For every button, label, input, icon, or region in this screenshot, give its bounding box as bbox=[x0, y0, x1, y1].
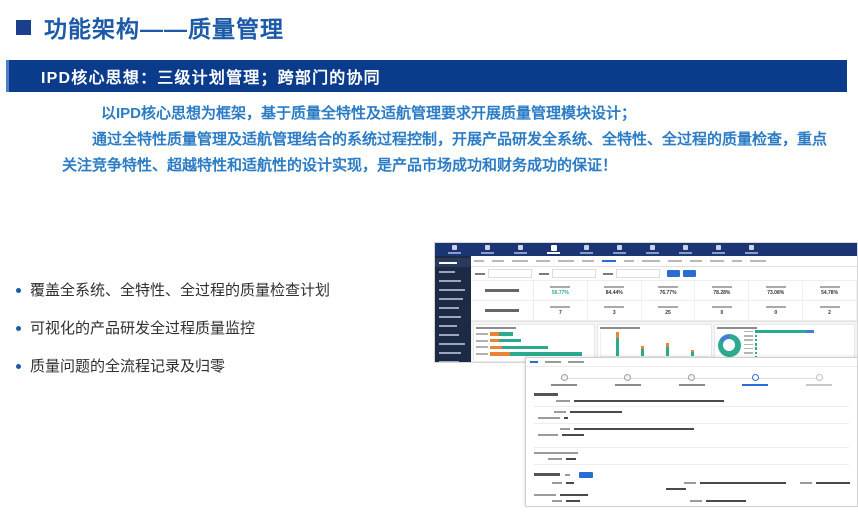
stepper-step-1[interactable] bbox=[540, 374, 588, 386]
sidebar-item-label bbox=[439, 361, 459, 363]
progress-stepper bbox=[526, 367, 857, 390]
field-value bbox=[666, 488, 686, 490]
topnav-item-icon bbox=[551, 245, 557, 251]
topnav-item-icon bbox=[650, 245, 655, 250]
kpi-row-header bbox=[471, 301, 534, 320]
dashboard-tab-10[interactable] bbox=[668, 260, 682, 262]
field-label bbox=[552, 482, 562, 484]
field-value bbox=[562, 434, 584, 436]
section-heading-row bbox=[534, 472, 849, 478]
field-value bbox=[706, 500, 746, 502]
field-label bbox=[552, 500, 562, 502]
sidebar-item-label bbox=[439, 334, 459, 336]
kpi-row-header bbox=[471, 281, 534, 300]
sidebar-item-label bbox=[439, 289, 465, 291]
dashboard-tab-strip bbox=[471, 256, 857, 267]
sidebar-item-label bbox=[439, 352, 461, 354]
topnav-item-7[interactable] bbox=[636, 245, 669, 254]
sidebar-item-6[interactable] bbox=[435, 303, 471, 312]
topnav-item-icon bbox=[485, 245, 490, 250]
square-bullet-icon bbox=[16, 20, 31, 35]
kpi-cell: 25 bbox=[642, 301, 696, 320]
sidebar-item-3[interactable] bbox=[435, 276, 471, 285]
dashboard-tab-13[interactable] bbox=[732, 260, 742, 262]
sidebar-item-7[interactable] bbox=[435, 312, 471, 321]
dashboard-tab-3[interactable] bbox=[512, 260, 528, 262]
vertical-bar-4 bbox=[691, 350, 694, 356]
field-label bbox=[560, 428, 570, 430]
sidebar-item-label bbox=[439, 280, 461, 282]
field-row bbox=[534, 452, 849, 454]
paragraph-2: 通过全特性质量管理及适航管理结合的系统过程控制，开展产品研发全系统、全特性、全过… bbox=[0, 127, 858, 179]
field-label bbox=[565, 474, 570, 476]
chart-plot-area bbox=[476, 331, 592, 358]
filter-input-2[interactable] bbox=[552, 269, 596, 278]
topnav-item-label bbox=[646, 252, 659, 254]
chart-title bbox=[600, 327, 640, 329]
sidebar-item-label bbox=[439, 271, 455, 273]
field-label bbox=[534, 452, 578, 454]
step-label bbox=[551, 384, 577, 386]
donut-chart-icon bbox=[718, 334, 741, 357]
info-grid-row bbox=[534, 482, 849, 484]
topnav-item-label bbox=[679, 252, 692, 254]
vertical-bar-3 bbox=[666, 343, 669, 356]
bar-category-label bbox=[476, 340, 488, 342]
banner-title: IPD核心思想：三级计划管理；跨部门的协同 bbox=[41, 64, 381, 88]
topnav-item-label bbox=[547, 252, 560, 254]
dashboard-main-panel: 56.77% 84.44% 76.77% 78.28% 73.08% 54.78… bbox=[471, 256, 857, 363]
bar-row-3 bbox=[476, 345, 592, 349]
bar-category-label bbox=[744, 331, 753, 333]
chart-title bbox=[717, 327, 757, 329]
bar-segment-teal bbox=[616, 338, 619, 356]
kpi-cell: 2 bbox=[803, 301, 857, 320]
mini-bar-row-6 bbox=[744, 351, 852, 354]
bar-segment-orange bbox=[490, 346, 502, 350]
topnav-item-4[interactable] bbox=[537, 245, 570, 255]
bar-category-label bbox=[744, 348, 753, 350]
topnav-item-2[interactable] bbox=[471, 245, 504, 254]
bar-row-4 bbox=[476, 352, 592, 356]
topnav-item-icon bbox=[584, 245, 589, 250]
kpi-cell: 84.44% bbox=[588, 281, 642, 300]
topnav-item-label bbox=[481, 252, 494, 254]
field-label bbox=[556, 400, 570, 402]
topnav-item-1[interactable] bbox=[438, 245, 471, 254]
list-item: 可视化的产品研发全过程质量监控 bbox=[10, 318, 430, 339]
mini-bar-row-5 bbox=[744, 347, 852, 350]
field-row bbox=[534, 434, 849, 436]
field-label bbox=[800, 482, 812, 484]
sidebar-item-12[interactable] bbox=[435, 357, 471, 363]
dashboard-tab-6[interactable] bbox=[582, 260, 594, 262]
vertical-bar-1 bbox=[616, 332, 619, 356]
dashboard-tab-1[interactable] bbox=[474, 260, 484, 262]
step-circle-icon bbox=[561, 374, 568, 381]
bullet-label: 质量问题的全流程记录及归零 bbox=[30, 356, 225, 377]
field-row bbox=[534, 400, 849, 402]
field-label bbox=[548, 458, 562, 460]
step-circle-icon bbox=[688, 374, 695, 381]
detail-section-2 bbox=[526, 440, 857, 465]
mini-bar bbox=[755, 330, 815, 333]
slide-title-bar: 功能架构——质量管理 bbox=[0, 8, 858, 46]
bar-segment-orange bbox=[490, 332, 499, 336]
field-value bbox=[574, 428, 694, 430]
sidebar-item-label bbox=[439, 307, 459, 309]
divider bbox=[534, 447, 849, 448]
mini-bar-row-2 bbox=[744, 334, 852, 337]
field-value bbox=[816, 482, 850, 484]
field-label bbox=[534, 494, 556, 496]
topnav-item-10[interactable] bbox=[735, 245, 768, 254]
dashboard-body: 56.77% 84.44% 76.77% 78.28% 73.08% 54.78… bbox=[435, 256, 857, 363]
dashboard-tab-4[interactable] bbox=[536, 260, 550, 262]
topnav-item-label bbox=[745, 252, 758, 254]
bar-segment-teal bbox=[641, 349, 644, 356]
bullet-label: 可视化的产品研发全过程质量监控 bbox=[30, 318, 255, 339]
info-field bbox=[552, 500, 580, 502]
detail-tab-strip bbox=[526, 358, 857, 367]
section-heading bbox=[534, 393, 558, 396]
section-banner: IPD核心思想：三级计划管理；跨部门的协同 bbox=[6, 60, 847, 92]
vertical-bar-2 bbox=[641, 346, 644, 356]
topnav-item-label bbox=[580, 252, 593, 254]
dashboard-tab-12[interactable] bbox=[710, 260, 724, 262]
bar-segment-teal bbox=[499, 332, 513, 336]
bar-category-label bbox=[476, 346, 488, 348]
divider bbox=[534, 423, 849, 424]
sidebar-item-4[interactable] bbox=[435, 285, 471, 294]
step-label bbox=[742, 384, 768, 386]
bar-row-2 bbox=[476, 339, 592, 343]
filter-label-icon bbox=[603, 273, 613, 275]
bar-segment-teal bbox=[499, 339, 521, 343]
dashboard-tab-7[interactable] bbox=[602, 260, 616, 263]
step-label bbox=[806, 384, 832, 386]
bar-row-1 bbox=[476, 332, 592, 336]
tab-overview[interactable] bbox=[530, 361, 538, 363]
sidebar-item-9[interactable] bbox=[435, 330, 471, 339]
field-row bbox=[534, 411, 849, 413]
topnav-item-9[interactable] bbox=[702, 245, 735, 254]
mini-bar-row-3 bbox=[744, 339, 852, 342]
dashboard-tab-9[interactable] bbox=[642, 260, 660, 262]
tab-records[interactable] bbox=[568, 361, 584, 363]
mini-bar-row-4 bbox=[744, 343, 852, 346]
sidebar-item-1[interactable] bbox=[435, 258, 471, 267]
stepper-step-5[interactable] bbox=[795, 374, 843, 386]
dashboard-tab-5[interactable] bbox=[558, 260, 574, 262]
field-value bbox=[564, 417, 568, 419]
kpi-cell: 0 bbox=[695, 301, 749, 320]
filter-input-3[interactable] bbox=[616, 269, 660, 278]
stepper-step-3[interactable] bbox=[668, 374, 716, 386]
body-paragraphs: 以IPD核心思想为框架，基于质量全特性及适航管理要求开展质量管理模块设计； 通过… bbox=[0, 101, 858, 179]
mini-bar bbox=[755, 347, 757, 350]
list-item: 质量问题的全流程记录及归零 bbox=[10, 356, 430, 377]
field-label bbox=[690, 500, 702, 502]
bar-category-label bbox=[744, 339, 753, 341]
field-row bbox=[534, 494, 849, 496]
page-title: 功能架构——质量管理 bbox=[44, 10, 284, 44]
bar-category-label bbox=[744, 335, 753, 337]
status-badge bbox=[579, 472, 593, 478]
bar-category-label bbox=[476, 353, 488, 355]
topnav-item-icon bbox=[518, 245, 523, 250]
sidebar-item-label bbox=[439, 316, 461, 318]
quality-issue-detail-screenshot bbox=[525, 357, 858, 507]
chart-title bbox=[476, 327, 516, 329]
kpi-cell: 3 bbox=[588, 301, 642, 320]
field-row bbox=[534, 488, 849, 490]
dashboard-filter-bar bbox=[471, 267, 857, 281]
stepper-step-4[interactable] bbox=[731, 374, 779, 386]
kpi-cell: 54.78% bbox=[803, 281, 857, 300]
field-label bbox=[684, 482, 696, 484]
filter-label-icon bbox=[475, 273, 485, 275]
detail-section-1 bbox=[526, 390, 857, 436]
bar-segment-teal bbox=[510, 352, 582, 356]
field-value bbox=[574, 400, 724, 402]
search-button[interactable] bbox=[667, 270, 680, 277]
kpi-cell: 0 bbox=[749, 301, 803, 320]
quality-dashboard-screenshot: 56.77% 84.44% 76.77% 78.28% 73.08% 54.78… bbox=[434, 242, 858, 363]
kpi-summary-table: 56.77% 84.44% 76.77% 78.28% 73.08% 54.78… bbox=[471, 281, 857, 322]
info-field bbox=[684, 482, 786, 484]
field-value bbox=[566, 482, 574, 484]
topnav-item-label bbox=[712, 252, 725, 254]
bullet-dot-icon bbox=[16, 288, 21, 293]
field-value bbox=[566, 458, 576, 460]
sidebar-item-label bbox=[439, 298, 463, 300]
table-row: 56.77% 84.44% 76.77% 78.28% 73.08% 54.78… bbox=[471, 281, 857, 301]
sidebar-item-label bbox=[439, 262, 457, 264]
detail-section-3 bbox=[526, 469, 857, 502]
stepper-step-2[interactable] bbox=[604, 374, 652, 386]
sidebar-item-label bbox=[439, 325, 457, 327]
field-label bbox=[538, 417, 560, 419]
info-field bbox=[690, 500, 746, 502]
topnav-item-3[interactable] bbox=[504, 245, 537, 254]
dashboard-sidebar bbox=[435, 256, 471, 363]
table-row: 7 3 25 0 0 2 bbox=[471, 301, 857, 321]
topnav-item-6[interactable] bbox=[603, 245, 636, 254]
field-value bbox=[700, 482, 786, 484]
bar-segment-orange bbox=[490, 352, 510, 356]
step-circle-icon bbox=[624, 374, 631, 381]
bullet-list: 覆盖全系统、全特性、全过程的质量检查计划 可视化的产品研发全过程质量监控 质量问… bbox=[10, 280, 430, 394]
topnav-item-label bbox=[514, 252, 527, 254]
field-value bbox=[560, 494, 588, 496]
dashboard-tab-8[interactable] bbox=[624, 260, 634, 262]
divider bbox=[534, 464, 849, 465]
topnav-item-5[interactable] bbox=[570, 245, 603, 254]
sidebar-item-2[interactable] bbox=[435, 267, 471, 276]
info-grid-row bbox=[534, 500, 849, 502]
filter-label-icon bbox=[539, 273, 549, 275]
dashboard-tab-14[interactable] bbox=[750, 260, 766, 262]
bar-segment-teal bbox=[666, 347, 669, 356]
kpi-cell: 76.77% bbox=[642, 281, 696, 300]
info-field bbox=[552, 482, 574, 484]
bar-segment-teal bbox=[502, 346, 548, 350]
topnav-item-label bbox=[613, 252, 626, 254]
step-label bbox=[679, 384, 705, 386]
sidebar-item-label bbox=[439, 343, 465, 345]
bullet-dot-icon bbox=[16, 364, 21, 369]
info-field bbox=[800, 482, 850, 484]
chart-plot-area bbox=[717, 331, 852, 359]
field-label bbox=[554, 411, 566, 413]
topnav-item-icon bbox=[617, 245, 622, 250]
field-row bbox=[534, 458, 849, 460]
dashboard-top-navbar bbox=[435, 243, 857, 256]
mini-bar bbox=[755, 339, 757, 342]
divider bbox=[534, 406, 849, 407]
mini-bar bbox=[755, 343, 757, 346]
paragraph-1: 以IPD核心思想为框架，基于质量全特性及适航管理要求开展质量管理模块设计； bbox=[0, 101, 858, 127]
field-label bbox=[538, 434, 558, 436]
kpi-cell: 56.77% bbox=[534, 281, 588, 300]
field-value bbox=[570, 411, 622, 413]
bar-category-label bbox=[744, 352, 753, 354]
dashboard-tab-2[interactable] bbox=[492, 260, 504, 262]
sidebar-item-8[interactable] bbox=[435, 321, 471, 330]
reset-button[interactable] bbox=[683, 270, 696, 277]
topnav-item-icon bbox=[683, 245, 688, 250]
topnav-item-icon bbox=[716, 245, 721, 250]
topnav-item-icon bbox=[452, 245, 457, 250]
filter-input-1[interactable] bbox=[488, 269, 532, 278]
kpi-cell: 78.28% bbox=[695, 281, 749, 300]
mini-bar-chart bbox=[741, 330, 852, 360]
sidebar-item-10[interactable] bbox=[435, 339, 471, 348]
bullet-label: 覆盖全系统、全特性、全过程的质量检查计划 bbox=[30, 280, 330, 301]
list-item: 覆盖全系统、全特性、全过程的质量检查计划 bbox=[10, 280, 430, 301]
sidebar-item-5[interactable] bbox=[435, 294, 471, 303]
mini-bar-row-1 bbox=[744, 330, 852, 333]
step-circle-icon bbox=[816, 374, 823, 381]
sidebar-item-11[interactable] bbox=[435, 348, 471, 357]
kpi-cell: 73.08% bbox=[749, 281, 803, 300]
bar-category-label bbox=[744, 344, 753, 346]
dashboard-chart-row bbox=[471, 322, 857, 362]
topnav-item-label bbox=[448, 252, 461, 254]
bar-segment-teal bbox=[691, 352, 694, 356]
dashboard-tab-11[interactable] bbox=[690, 260, 702, 262]
tab-process[interactable] bbox=[545, 361, 561, 363]
bullet-dot-icon bbox=[16, 326, 21, 331]
bar-category-label bbox=[476, 333, 488, 335]
bar-segment-orange bbox=[490, 339, 499, 343]
field-row bbox=[534, 417, 849, 419]
kpi-cell: 7 bbox=[534, 301, 588, 320]
field-value bbox=[566, 500, 580, 502]
chart-plot-area bbox=[600, 331, 709, 357]
step-circle-icon bbox=[752, 374, 759, 381]
field-row bbox=[534, 428, 849, 430]
topnav-item-icon bbox=[749, 245, 754, 250]
section-heading bbox=[534, 473, 560, 476]
mini-bar bbox=[755, 335, 757, 338]
topnav-item-8[interactable] bbox=[669, 245, 702, 254]
step-label bbox=[615, 384, 641, 386]
mini-bar bbox=[755, 352, 757, 355]
